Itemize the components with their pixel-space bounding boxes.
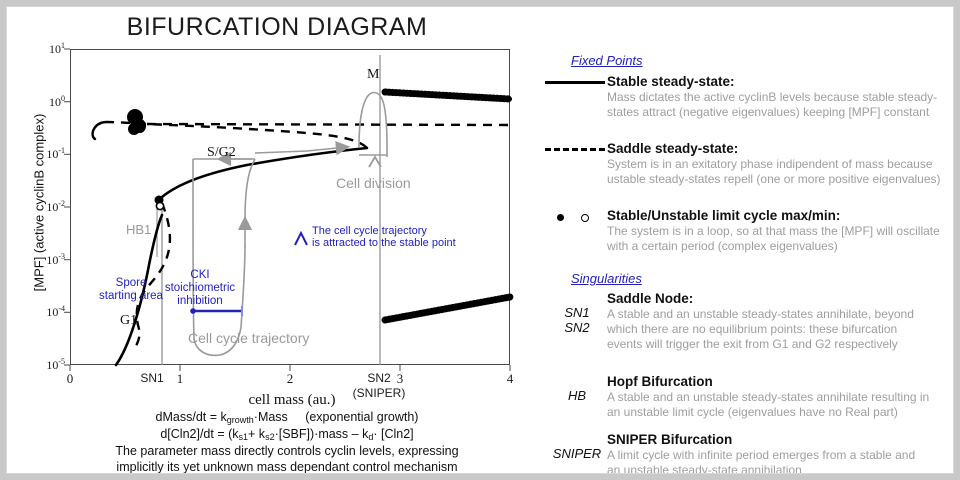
equation-mass: dMass/dt = kgrowth·Mass (exponential gro…: [62, 409, 512, 426]
legend-desc-limit-cycle-1: The system is in a loop, so at that mass…: [607, 224, 951, 239]
dashed-line-icon: [545, 148, 605, 151]
limit-cycle-dots-icon: [545, 210, 605, 224]
legend-desc-saddle-node-3: events will trigger the exit from G1 and…: [607, 337, 951, 352]
attraction-caret: [295, 233, 307, 245]
y-axis-ticks: [64, 49, 70, 365]
open-dot-icon: [581, 214, 589, 222]
legend-title-sniper: SNIPER Bifurcation: [607, 432, 951, 448]
legend-desc-sniper-1: A limit cycle with infinite period emerg…: [607, 448, 951, 463]
legend-key-sniper-text: SNIPER: [541, 446, 613, 461]
legend-panel: Fixed Points Stable steady-state: Mass d…: [541, 49, 951, 469]
legend-desc-stable-2: states attract (negative eigenvalues) ke…: [607, 105, 951, 120]
legend-desc-saddle-2: ustable steady-states repell (one or mor…: [607, 172, 951, 187]
legend-title-hopf: Hopf Bifurcation: [607, 374, 951, 390]
legend-title-saddle: Saddle steady-state:: [607, 141, 951, 157]
equation-note-line2: implicitly its yet unknown mass dependan…: [62, 459, 512, 474]
legend-desc-hopf-1: A stable and an unstable steady-states a…: [607, 390, 951, 405]
cki-inhibition-marker: [190, 306, 242, 316]
legend-key-sn1: SN1: [541, 305, 613, 320]
trajectory-rise-right-top: [245, 163, 253, 219]
equation-cln2: d[Cln2]/dt = (ks1+ ks2·[SBF])·mass – kd·…: [62, 426, 512, 443]
legend-title-saddle-node: Saddle Node:: [607, 291, 951, 307]
legend-section-singularities: Singularities: [571, 271, 642, 286]
limit-cycle-marker-sn1: [155, 196, 164, 210]
legend-desc-stable-1: Mass dictates the active cyclinB levels …: [607, 90, 951, 105]
saddle-branch-upper: [107, 122, 367, 148]
legend-desc-saddle-node-1: A stable and an unstable steady-states a…: [607, 307, 951, 322]
legend-desc-saddle-node-2: which there are no equilibrium points: t…: [607, 322, 951, 337]
filled-dot-icon: [557, 214, 564, 221]
legend-section-fixed-points: Fixed Points: [571, 53, 643, 68]
equation-mass-sub: growth: [227, 415, 254, 425]
legend-key-hopf: HB: [541, 388, 613, 403]
equation-mass-note: (exponential growth): [305, 410, 418, 424]
legend-key-hb: HB: [541, 388, 613, 403]
equations-block: dMass/dt = kgrowth·Mass (exponential gro…: [62, 409, 512, 474]
x-axis-ticks: [70, 365, 510, 371]
legend-key-saddle-node: SN1 SN2: [541, 305, 613, 335]
stable-branch-g1: [116, 215, 162, 365]
solid-line-icon: [545, 81, 605, 84]
limit-cycle-cluster-hb1: [127, 109, 146, 135]
equation-mass-rhs: ·Mass: [254, 410, 288, 424]
legend-key-sn2: SN2: [541, 320, 613, 335]
bifurcation-plot: 101 100 10-1 10-2 10-3 10-4 10-5 0 1 2 3…: [7, 7, 547, 474]
equation-mass-lhs: dMass/dt = k: [156, 410, 227, 424]
equation-note-line1: The parameter mass directly controls cyc…: [62, 443, 512, 459]
legend-desc-hopf-2: an unstable limit cycle (eigenvalues hav…: [607, 405, 951, 420]
legend-desc-limit-cycle-2: with a certain period (complex eigenvalu…: [607, 239, 951, 254]
legend-desc-saddle-1: System is in an exitatory phase indipend…: [607, 157, 951, 172]
saddle-branch-lower: [133, 203, 170, 351]
saddle-branch-left-hook: [93, 122, 107, 139]
limit-cycle-min-branch-core: [385, 297, 510, 320]
cell-division-caret: [369, 157, 381, 167]
trajectory-run-right: [255, 151, 307, 153]
page-canvas: BIFURCATION DIAGRAM 101 100 10-1 10-2 10…: [6, 6, 954, 474]
legend-key-sniper: SNIPER: [541, 446, 613, 461]
saddle-asymptote: [147, 124, 510, 125]
legend-desc-sniper-2: an unstable steady-state annihilation: [607, 463, 951, 474]
trajectory-bottom-uturn: [194, 327, 241, 355]
legend-title-limit-cycle: Stable/Unstable limit cycle max/min:: [607, 208, 951, 224]
legend-title-stable: Stable steady-state:: [607, 74, 951, 90]
plot-graphics: [7, 7, 547, 474]
